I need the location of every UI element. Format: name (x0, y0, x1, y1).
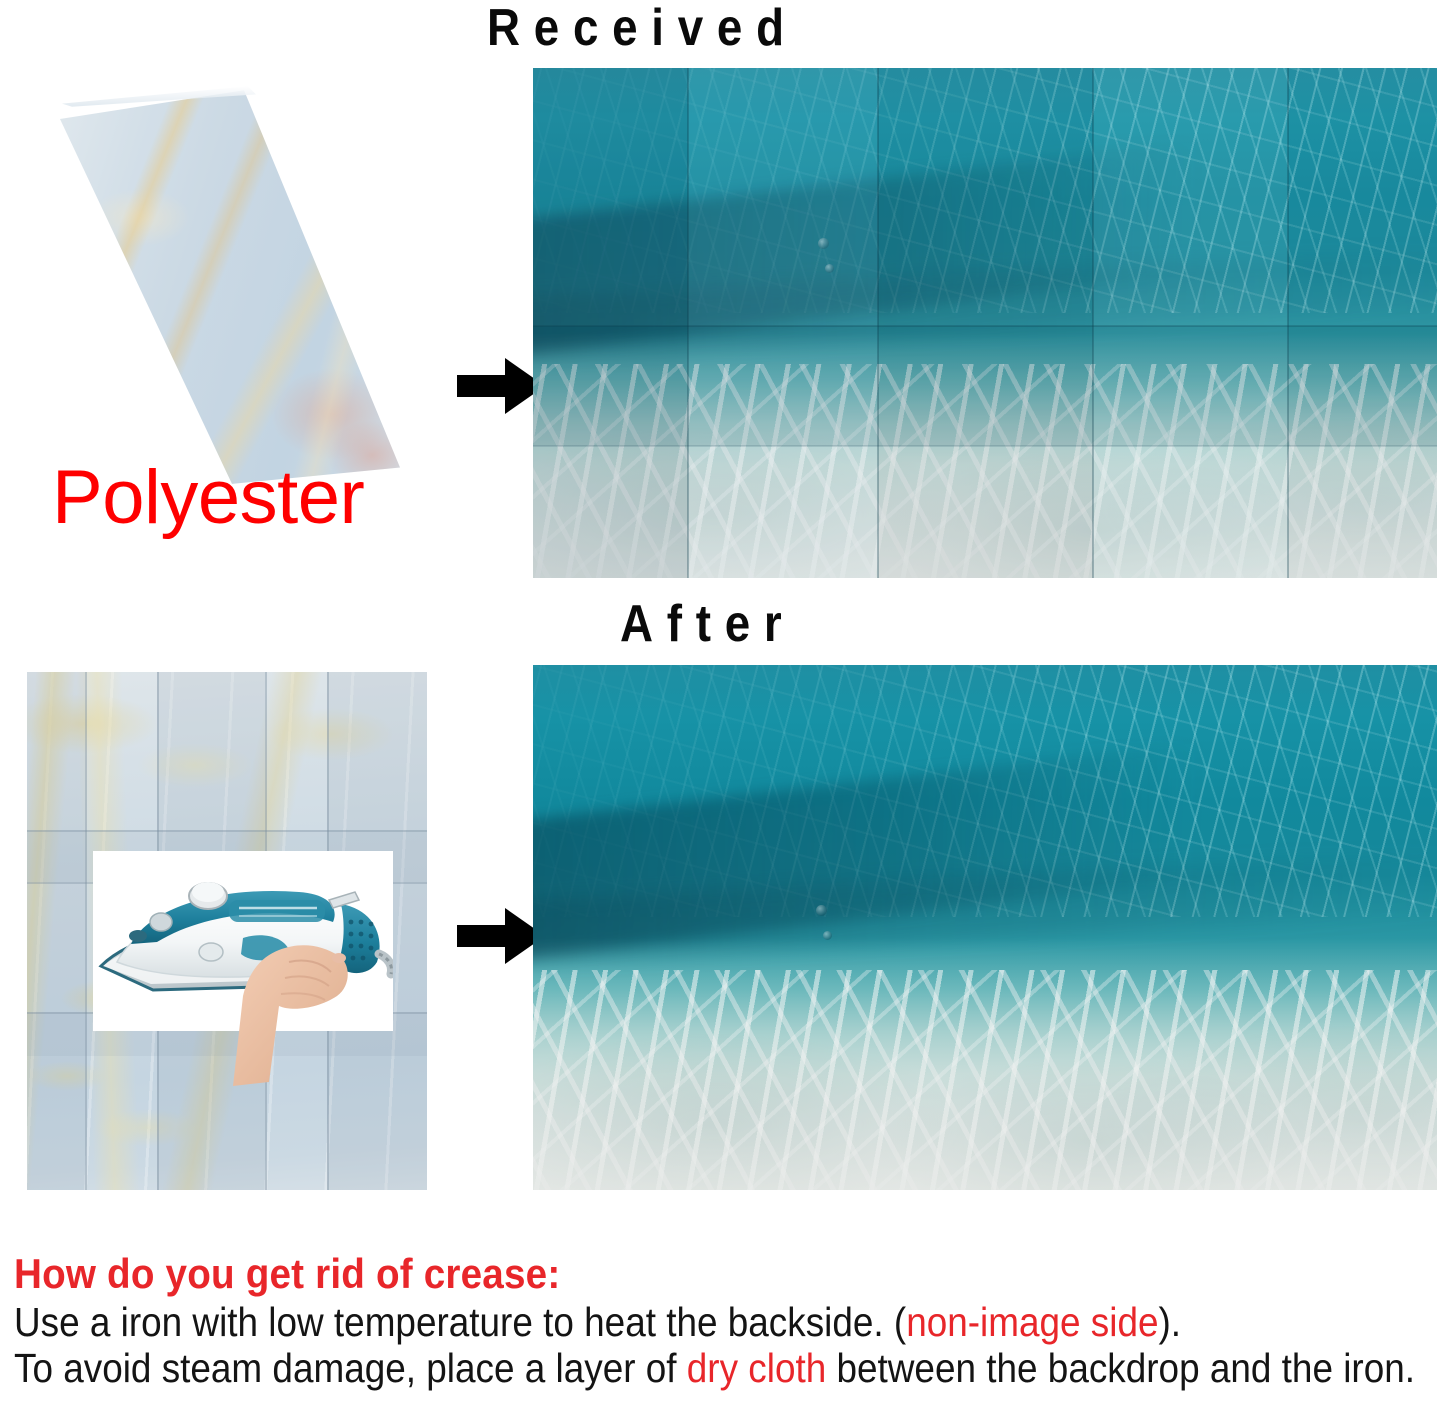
bubble-icon (818, 238, 829, 249)
received-section-title: Received (487, 2, 798, 54)
arrow-right-icon (457, 355, 545, 417)
howto-line-2-lead: To avoid steam damage, place a layer of (14, 1345, 687, 1391)
howto-instructions-block: How do you get rid of crease: Use a iron… (14, 1252, 1434, 1392)
after-backdrop-photo (533, 665, 1437, 1190)
howto-line-2-highlight: dry cloth (687, 1345, 826, 1391)
howto-line-1-tail: ). (1159, 1299, 1182, 1345)
bubble-icon (816, 905, 827, 916)
bubble-icon (823, 931, 832, 940)
after-section-title: After (620, 598, 795, 650)
howto-title: How do you get rid of crease: (14, 1252, 1320, 1296)
polyester-fabric-roll-image (20, 78, 420, 488)
infographic-canvas: Received Polyester (0, 0, 1437, 1401)
arrow-right-icon (457, 905, 545, 967)
howto-line-1-highlight: non-image side (906, 1299, 1158, 1345)
received-backdrop-photo (533, 68, 1437, 578)
seabed-haze (533, 938, 1437, 1190)
howto-line-2: To avoid steam damage, place a layer of … (14, 1346, 1292, 1392)
seabed-haze (533, 333, 1437, 578)
bubble-icon (825, 264, 834, 273)
steam-iron-with-hand-image (93, 846, 393, 1096)
polyester-material-label: Polyester (52, 460, 364, 536)
fabric-roll-marbling (20, 78, 420, 488)
howto-line-2-tail: between the backdrop and the iron. (826, 1345, 1415, 1391)
howto-line-1-lead: Use a iron with low temperature to heat … (14, 1299, 906, 1345)
howto-line-1: Use a iron with low temperature to heat … (14, 1300, 1292, 1346)
